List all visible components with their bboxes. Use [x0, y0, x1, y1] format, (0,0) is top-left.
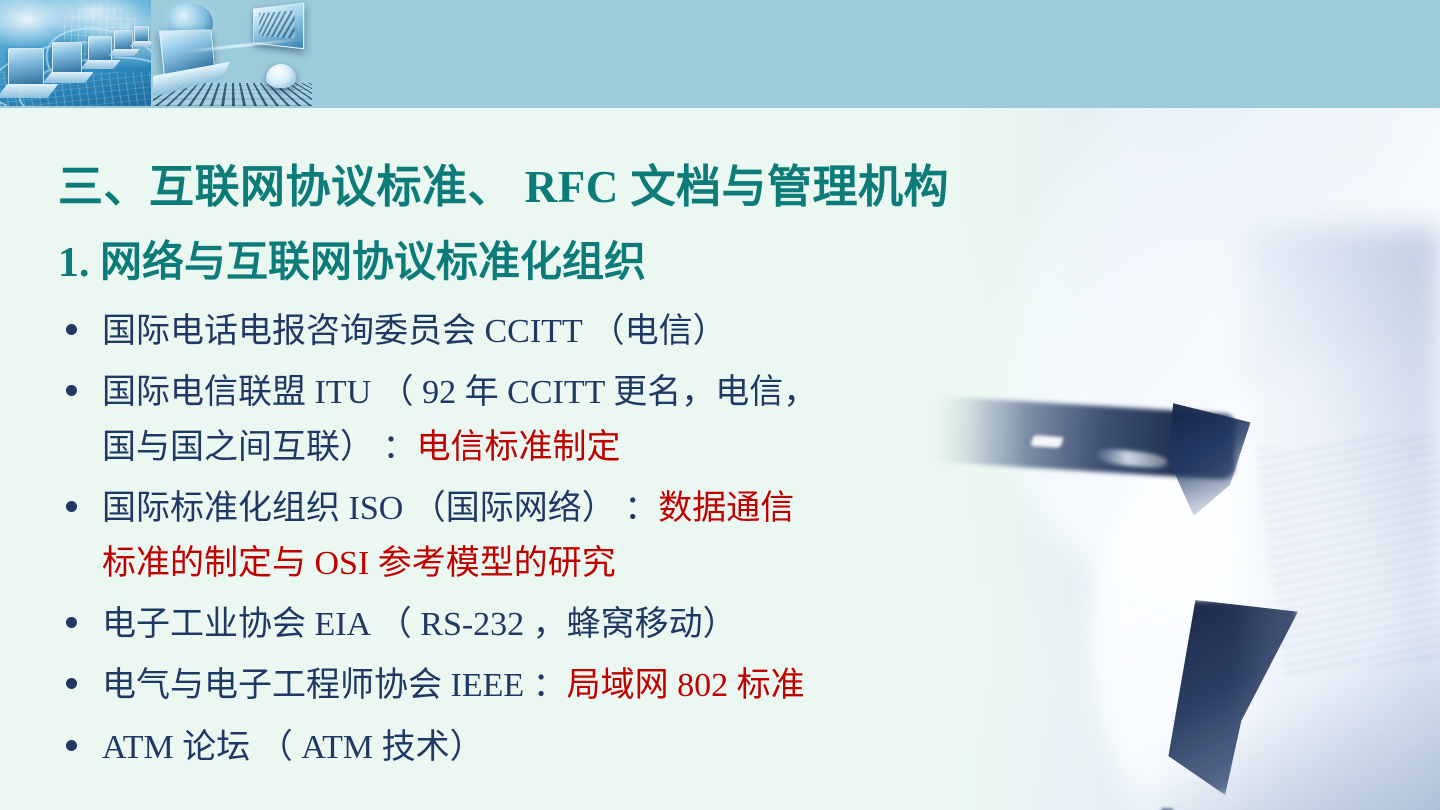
highlighted-text: 标准的制定与 OSI 参考模型的研究: [102, 545, 616, 582]
laptop-icon: [159, 29, 215, 77]
slide-title: 三、互联网协议标准、 RFC 文档与管理机构: [58, 150, 949, 215]
slide-canvas: 三、互联网协议标准、 RFC 文档与管理机构 1. 网络与互联网协议标准化组织 …: [0, 0, 1440, 810]
bullet-dot-icon: [66, 678, 77, 689]
laptop-icon: [8, 48, 44, 86]
banner-image-network: [153, 0, 312, 106]
list-item: ATM 论坛 （ ATM 技术）: [58, 720, 988, 775]
list-item: 国际标准化组织 ISO （国际网络） ：数据通信标准的制定与 OSI 参考模型的…: [58, 481, 988, 591]
bullet-dot-icon: [66, 617, 77, 628]
list-item-text: 国际电信联盟 ITU （ 92 年 CCITT 更名，电信，: [102, 374, 817, 411]
highlighted-text: 数据通信: [658, 490, 794, 527]
list-item-line: 电子工业协会 EIA （ RS-232 ，蜂窝移动）: [102, 597, 988, 652]
slide-subtitle: 1. 网络与互联网协议标准化组织: [58, 228, 646, 289]
highlighted-text: 电信标准制定: [417, 429, 621, 466]
bullet-dot-icon: [66, 385, 77, 396]
list-item-text: ATM 论坛 （ ATM 技术）: [102, 729, 484, 766]
list-item-line: 国与国之间互联） ：电信标准制定: [102, 420, 988, 475]
list-item: 国际电信联盟 ITU （ 92 年 CCITT 更名，电信，国与国之间互联） ：…: [58, 365, 988, 475]
laptop-icon: [52, 42, 82, 74]
list-item-text: 电气与电子工程师协会 IEEE ：: [102, 667, 567, 704]
list-item-line: 国际电话电报咨询委员会 CCITT （电信）: [102, 304, 988, 359]
list-item-line: 电气与电子工程师协会 IEEE ：局域网 802 标准: [102, 658, 988, 713]
list-item-text: 国与国之间互联） ：: [102, 429, 417, 466]
banner-image-laptops: [0, 0, 151, 106]
laptop-icon: [88, 36, 112, 62]
list-item: 电气与电子工程师协会 IEEE ：局域网 802 标准: [58, 658, 988, 713]
list-item-line: 国际电信联盟 ITU （ 92 年 CCITT 更名，电信，: [102, 365, 988, 420]
bullet-dot-icon: [66, 501, 77, 512]
list-item: 国际电话电报咨询委员会 CCITT （电信）: [58, 304, 988, 359]
list-item-line: 标准的制定与 OSI 参考模型的研究: [102, 536, 988, 591]
list-item-text: 国际电话电报咨询委员会 CCITT （电信）: [102, 313, 727, 350]
list-item-text: 电子工业协会 EIA （ RS-232 ，蜂窝移动）: [102, 606, 737, 643]
list-item-line: ATM 论坛 （ ATM 技术）: [102, 720, 988, 775]
bullet-list: 国际电话电报咨询委员会 CCITT （电信）国际电信联盟 ITU （ 92 年 …: [58, 304, 988, 781]
list-item-line: 国际标准化组织 ISO （国际网络） ：数据通信: [102, 481, 988, 536]
bullet-dot-icon: [66, 324, 77, 335]
highlighted-text: 局域网 802 标准: [567, 667, 805, 704]
header-banner: [0, 0, 1440, 108]
laptop-icon: [114, 30, 133, 51]
list-item: 电子工业协会 EIA （ RS-232 ，蜂窝移动）: [58, 597, 988, 652]
mouse-icon: [266, 64, 296, 88]
bullet-dot-icon: [66, 740, 77, 751]
list-item-text: 国际标准化组织 ISO （国际网络） ：: [102, 490, 658, 527]
laptop-icon: [134, 26, 149, 43]
